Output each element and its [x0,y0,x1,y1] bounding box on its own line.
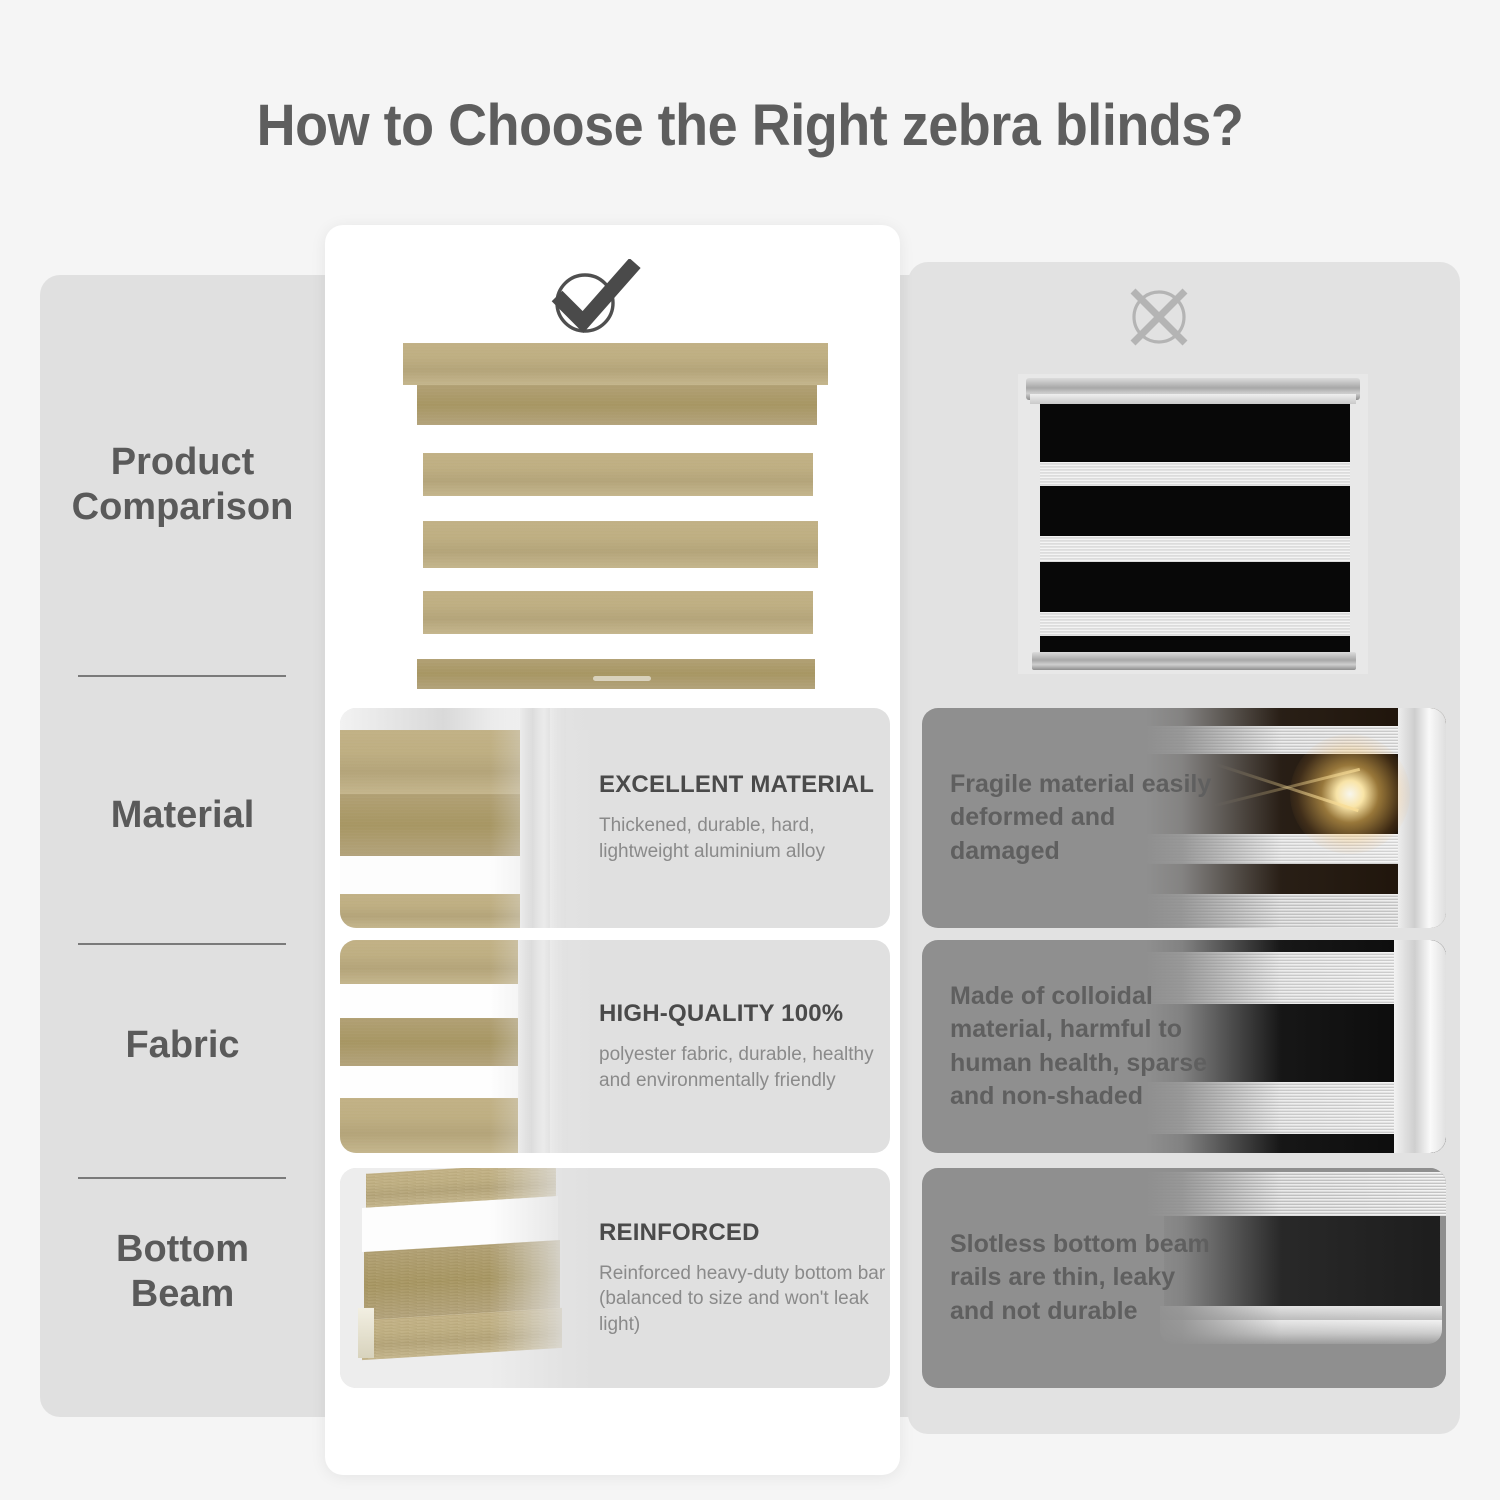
row-label-line2: Comparison [40,485,325,530]
bad-feature-card-bottom-beam: Slotless bottom beam rails are thin, lea… [922,1168,1446,1388]
good-feature-text-bottom-beam: REINFORCED Reinforced heavy-duty bottom … [595,1168,890,1388]
good-feature-body-material: Thickened, durable, hard, lightweight al… [599,813,890,864]
x-circle-icon [1123,280,1195,352]
good-feature-text-fabric: HIGH-QUALITY 100% polyester fabric, dura… [595,940,890,1153]
row-divider [78,1177,286,1179]
bad-feature-text-bottom-beam: Slotless bottom beam rails are thin, lea… [950,1168,1225,1388]
good-feature-heading-fabric: HIGH-QUALITY 100% [599,1000,890,1028]
bad-hero-image [1018,374,1368,674]
bad-feature-card-fabric: Made of colloidal material, harmful to h… [922,940,1446,1153]
infographic-root: How to Choose the Right zebra blinds? Pr… [0,0,1500,1500]
good-feature-card-material: EXCELLENT MATERIAL Thickened, durable, h… [340,708,890,928]
row-divider [78,675,286,677]
row-divider [78,943,286,945]
good-hero-image [403,343,828,693]
good-feature-body-bottom-beam: Reinforced heavy-duty bottom bar (balanc… [599,1261,890,1338]
row-label-product-comparison: Product Comparison [40,440,325,530]
good-feature-image-fabric [340,940,598,1153]
row-label-line1: Bottom [40,1227,325,1272]
row-label-bottom-beam: Bottom Beam [40,1227,325,1317]
good-feature-card-fabric: HIGH-QUALITY 100% polyester fabric, dura… [340,940,890,1153]
bad-feature-text-fabric: Made of colloidal material, harmful to h… [950,940,1225,1153]
page-title: How to Choose the Right zebra blinds? [53,92,1448,159]
bad-feature-text-material: Fragile material easily deformed and dam… [950,708,1225,928]
good-feature-text-material: EXCELLENT MATERIAL Thickened, durable, h… [595,708,890,928]
row-label-material: Material [40,793,325,838]
bad-feature-card-material: Fragile material easily deformed and dam… [922,708,1446,928]
good-feature-heading-bottom-beam: REINFORCED [599,1219,890,1247]
row-label-fabric: Fabric [40,1023,325,1068]
check-circle-icon [543,259,643,337]
good-feature-heading-material: EXCELLENT MATERIAL [599,771,890,799]
good-feature-image-material [340,708,598,928]
good-feature-body-fabric: polyester fabric, durable, healthy and e… [599,1042,890,1093]
row-label-line2: Beam [40,1272,325,1317]
row-label-column: Product Comparison Material Fabric Botto… [40,275,325,1417]
good-feature-card-bottom-beam: REINFORCED Reinforced heavy-duty bottom … [340,1168,890,1388]
good-feature-image-bottom-beam [340,1168,598,1388]
row-label-line1: Product [40,440,325,485]
